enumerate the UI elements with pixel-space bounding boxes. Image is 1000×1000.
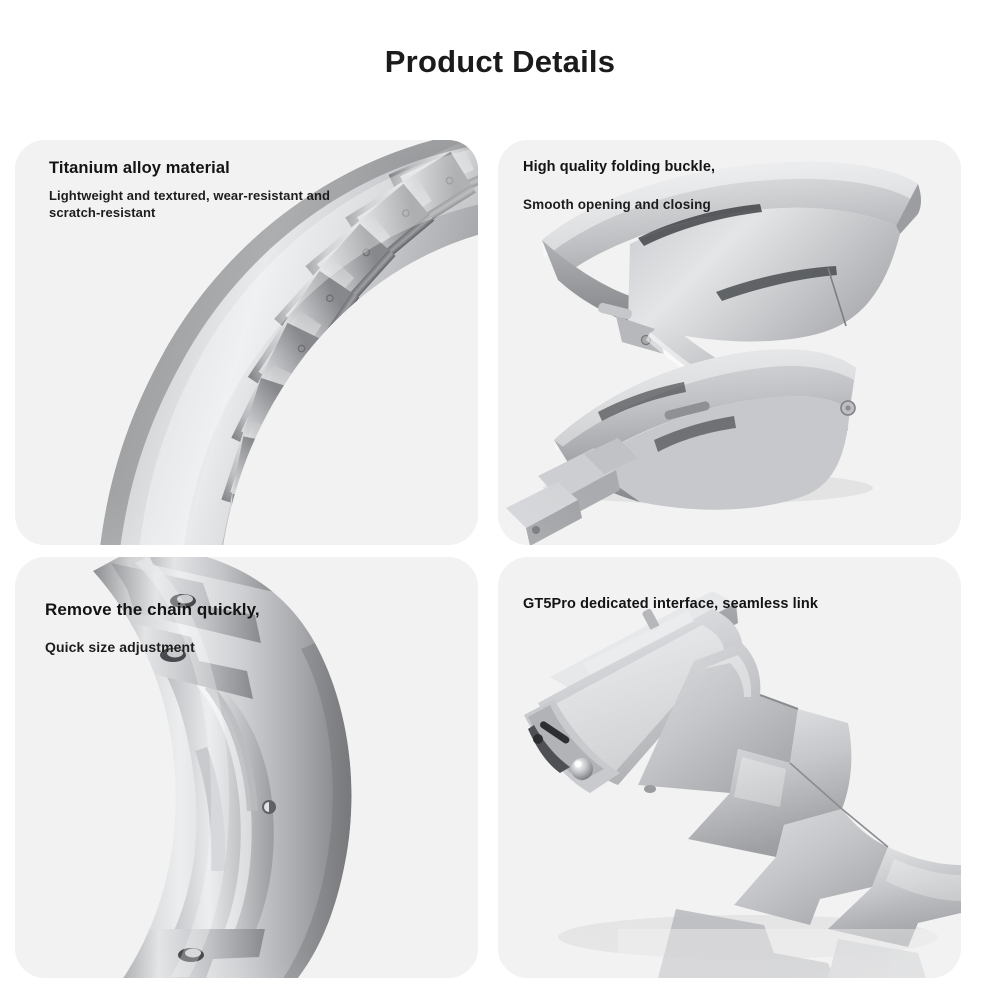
titanium-bracelet-photo — [15, 140, 478, 545]
feature-card-titanium-alloy-material[interactable]: Titanium alloy material Lightweight and … — [15, 140, 478, 545]
page-title: Product Details — [0, 44, 1000, 80]
folding-buckle-photo — [498, 140, 961, 545]
product-details-page: Product Details — [0, 0, 1000, 1000]
feature-card-remove-chain-quickly[interactable]: Remove the chain quickly, Quick size adj… — [15, 557, 478, 978]
feature-card-gt5pro-interface[interactable]: GT5Pro dedicated interface, seamless lin… — [498, 557, 961, 978]
feature-card-folding-buckle[interactable]: High quality folding buckle, Smooth open… — [498, 140, 961, 545]
feature-card-grid: Titanium alloy material Lightweight and … — [15, 140, 985, 978]
end-link-interface-photo — [498, 557, 961, 978]
quick-release-bracelet-photo — [15, 557, 478, 978]
